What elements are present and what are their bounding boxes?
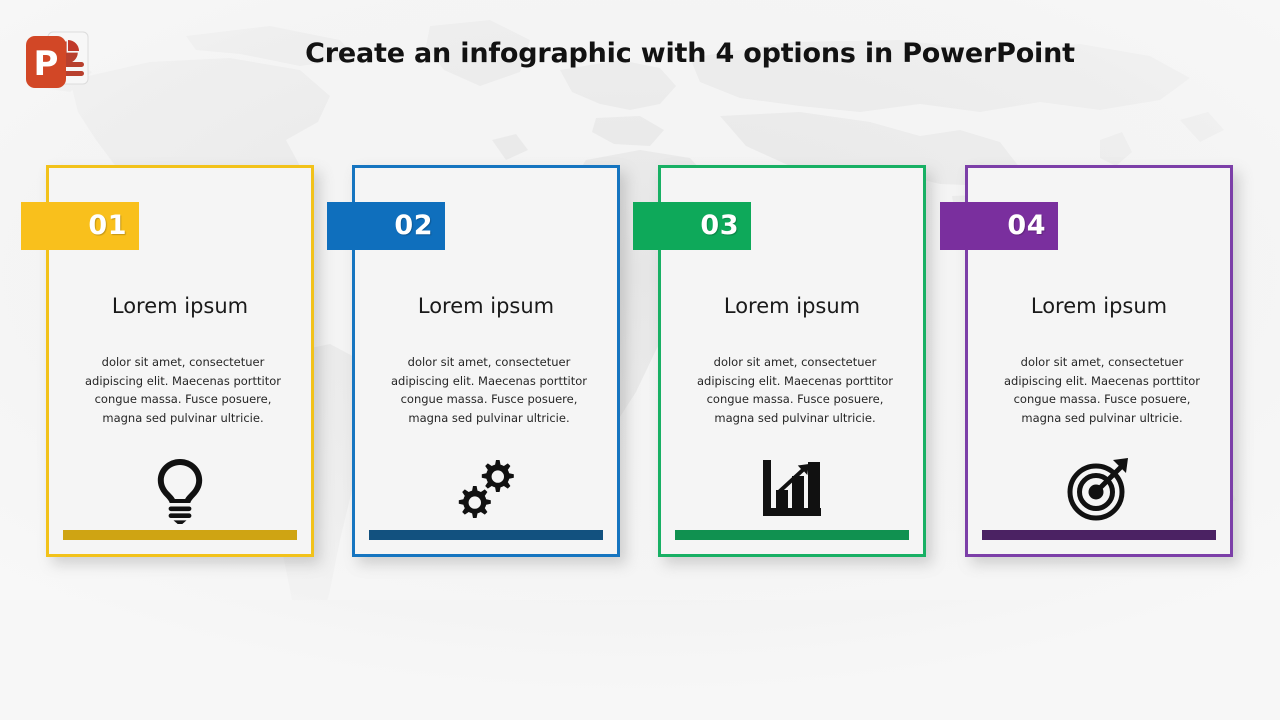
card-bottom-bar-2	[369, 530, 603, 540]
ribbon-number-2: 02	[327, 202, 445, 250]
card-title-4: Lorem ipsum	[968, 294, 1230, 318]
card-title-2: Lorem ipsum	[355, 294, 617, 318]
card-icon-slot-2	[355, 456, 617, 528]
card-icon-slot-1	[49, 456, 311, 528]
card-bottom-bar-1	[63, 530, 297, 540]
ribbon-label-3: 03	[700, 202, 739, 250]
option-card-3[interactable]: 03 Lorem ipsum dolor sit amet, consectet…	[658, 165, 926, 557]
slide-canvas: P Create an infographic with 4 options i…	[0, 0, 1280, 720]
ribbon-number-1: 01	[21, 202, 139, 250]
ribbon-number-4: 04	[940, 202, 1058, 250]
ribbon-number-3: 03	[633, 202, 751, 250]
target-arrow-icon	[1066, 456, 1132, 522]
card-body-2: dolor sit amet, consectetuer adipiscing …	[379, 353, 599, 427]
bar-chart-growth-icon	[761, 456, 823, 520]
ribbon-label-2: 02	[394, 202, 433, 250]
powerpoint-logo-icon: P	[18, 26, 104, 96]
card-icon-slot-4	[968, 456, 1230, 528]
svg-text:P: P	[34, 44, 59, 84]
option-card-2[interactable]: 02 Lorem ipsum dolor sit amet, consectet…	[352, 165, 620, 557]
card-title-1: Lorem ipsum	[49, 294, 311, 318]
card-body-1: dolor sit amet, consectetuer adipiscing …	[73, 353, 293, 427]
slide-header: P Create an infographic with 4 options i…	[0, 0, 1280, 110]
card-bottom-bar-4	[982, 530, 1216, 540]
card-body-3: dolor sit amet, consectetuer adipiscing …	[685, 353, 905, 427]
lightbulb-icon	[150, 456, 210, 524]
ribbon-label-4: 04	[1007, 202, 1046, 250]
page-title: Create an infographic with 4 options in …	[120, 38, 1260, 69]
card-body-4: dolor sit amet, consectetuer adipiscing …	[992, 353, 1212, 427]
card-title-3: Lorem ipsum	[661, 294, 923, 318]
card-bottom-bar-3	[675, 530, 909, 540]
card-icon-slot-3	[661, 456, 923, 528]
gears-icon	[453, 456, 519, 522]
ribbon-label-1: 01	[88, 202, 127, 250]
option-card-4[interactable]: 04 Lorem ipsum dolor sit amet, consectet…	[965, 165, 1233, 557]
option-card-1[interactable]: 01 Lorem ipsum dolor sit amet, consectet…	[46, 165, 314, 557]
